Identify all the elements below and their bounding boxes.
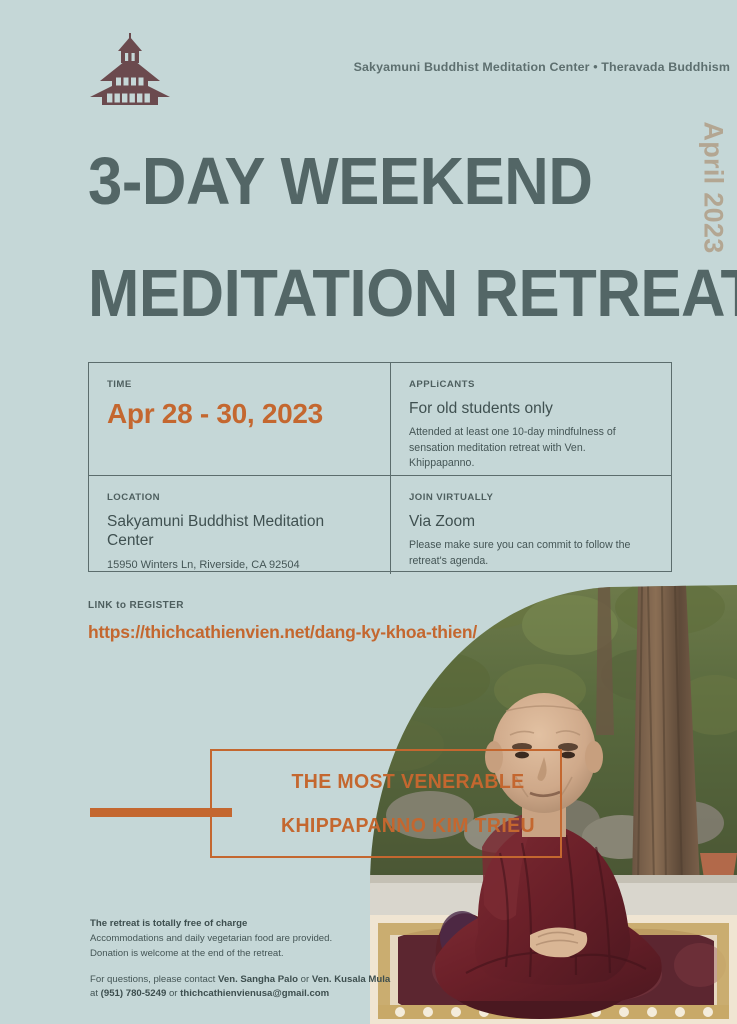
- footer-contact-name-2: Ven. Kusala Mula: [312, 974, 390, 985]
- info-table: TIME Apr 28 - 30, 2023 APPLiCANTS For ol…: [88, 362, 672, 572]
- footer-contact-or: or: [298, 974, 312, 985]
- footer-contact-prefix: For questions, please contact: [90, 974, 218, 985]
- info-value-location: Sakyamuni Buddhist Meditation Center: [107, 512, 372, 551]
- venerable-line-2: KHIPPAPANNO KIM TRIEU: [266, 804, 551, 848]
- footer-spacer: [90, 962, 390, 973]
- footer-accommodations: Accommodations and daily vegetarian food…: [90, 932, 390, 947]
- vertical-month-year: April 2023: [697, 121, 728, 253]
- info-cell-applicants: APPLiCANTS For old students only Attende…: [391, 363, 671, 476]
- info-label-location: LOCATION: [107, 492, 372, 503]
- page-title: 3-DAY WEEKEND MEDITATION RETREAT: [88, 126, 648, 350]
- info-sub-zoom: Please make sure you can commit to follo…: [409, 538, 653, 569]
- info-value-zoom: Via Zoom: [409, 512, 653, 531]
- register-link[interactable]: https://thichcathienvien.net/dang-ky-kho…: [88, 622, 477, 643]
- info-cell-time: TIME Apr 28 - 30, 2023: [89, 363, 391, 476]
- info-label-applicants: APPLiCANTS: [409, 379, 653, 390]
- footer-contact-line-2: at (951) 780-5249 or thichcathienvienusa…: [90, 987, 390, 1002]
- venerable-accent-bar: [90, 808, 232, 817]
- footer-donation: Donation is welcome at the end of the re…: [90, 947, 390, 962]
- info-sub-applicants: Attended at least one 10-day mindfulness…: [409, 425, 653, 471]
- footer-contact-phone[interactable]: (951) 780-5249: [101, 988, 167, 999]
- poster-canvas: Sakyamuni Buddhist Meditation Center • T…: [0, 0, 737, 1024]
- venerable-name: THE MOST VENERABLE KHIPPAPANNO KIM TRIEU: [258, 760, 558, 848]
- register-block: LINK to REGISTER https://thichcathienvie…: [88, 600, 477, 643]
- info-cell-location: LOCATION Sakyamuni Buddhist Meditation C…: [89, 476, 391, 574]
- info-cell-join-virtually: JOIN VIRTUALLY Via Zoom Please make sure…: [391, 476, 671, 574]
- info-value-applicants: For old students only: [409, 399, 653, 418]
- footer-contact-at: at: [90, 988, 101, 999]
- info-sub-address: 15950 Winters Ln, Riverside, CA 92504: [107, 558, 372, 574]
- organization-tagline: Sakyamuni Buddhist Meditation Center • T…: [354, 60, 730, 74]
- footer-contact-name-1: Ven. Sangha Palo: [218, 974, 298, 985]
- info-value-date: Apr 28 - 30, 2023: [107, 399, 372, 430]
- pagoda-temple-icon: [88, 33, 172, 105]
- info-label-time: TIME: [107, 379, 372, 390]
- footer-contact-email[interactable]: thichcathienvienusa@gmail.com: [180, 988, 329, 999]
- title-line-2: MEDITATION RETREAT: [88, 238, 603, 350]
- info-label-join-virtually: JOIN VIRTUALLY: [409, 492, 653, 503]
- register-label: LINK to REGISTER: [88, 600, 477, 611]
- footer-block: The retreat is totally free of charge Ac…: [90, 917, 390, 1002]
- title-line-1: 3-DAY WEEKEND: [88, 126, 603, 238]
- footer-contact-or-2: or: [166, 988, 180, 999]
- footer-free-of-charge: The retreat is totally free of charge: [90, 917, 390, 932]
- footer-contact-line-1: For questions, please contact Ven. Sangh…: [90, 973, 390, 988]
- venerable-line-1: THE MOST VENERABLE: [266, 760, 551, 804]
